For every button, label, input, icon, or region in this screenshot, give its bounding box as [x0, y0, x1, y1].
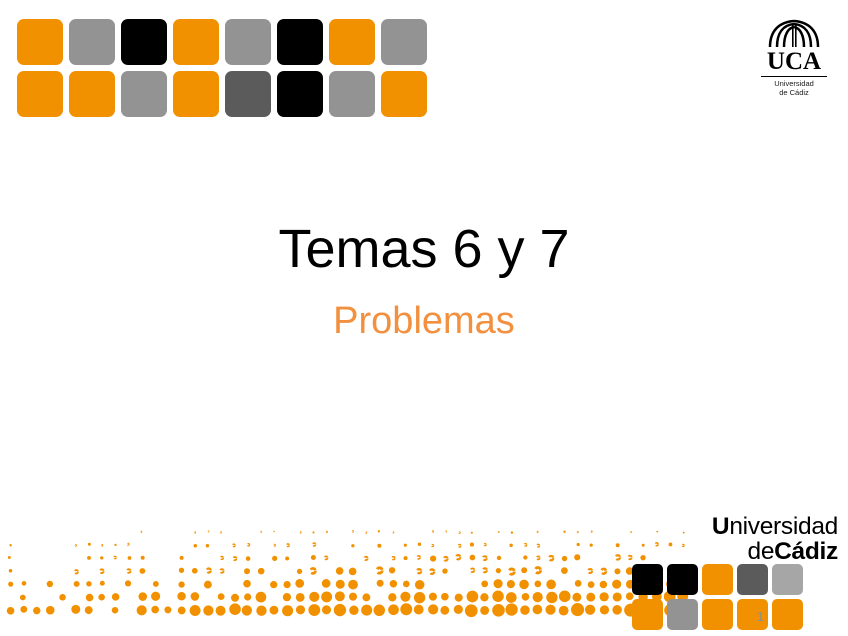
halftone-dot — [59, 594, 66, 601]
halftone-dot — [404, 556, 408, 560]
halftone-dot — [537, 544, 540, 547]
halftone-dot — [112, 607, 119, 614]
halftone-dot — [613, 592, 622, 601]
halftone-dot — [506, 592, 517, 603]
halftone-dot — [458, 544, 461, 547]
halftone-dot — [545, 605, 555, 615]
halftone-dot — [256, 592, 267, 603]
halftone-dot — [349, 593, 357, 601]
halftone-dot — [180, 556, 184, 560]
halftone-dot — [377, 568, 382, 573]
halftone-dot — [574, 554, 580, 560]
halftone-dot — [484, 543, 486, 545]
halftone-dot — [483, 568, 487, 572]
halftone-dot — [417, 556, 420, 559]
halftone-dot — [361, 605, 372, 616]
halftone-dot — [233, 544, 236, 547]
halftone-dot — [616, 543, 620, 547]
halftone-dot — [377, 544, 381, 548]
top-grid-square-r1-c5 — [277, 71, 323, 117]
halftone-dot — [296, 605, 305, 614]
halftone-dot — [164, 606, 171, 613]
halftone-dot — [519, 580, 529, 590]
halftone-dot — [140, 568, 146, 574]
top-grid-square-r1-c0 — [17, 71, 63, 117]
halftone-dot — [179, 568, 184, 573]
halftone-dot — [390, 580, 397, 587]
halftone-dot — [388, 593, 396, 601]
bottom-grid-square-r1-c2 — [702, 599, 733, 630]
halftone-dot — [8, 556, 11, 559]
halftone-dot — [431, 545, 433, 547]
top-grid-square-r0-c0 — [17, 19, 63, 65]
halftone-dot — [559, 591, 571, 603]
uca-bottom-wordmark-line2-cadiz: Cádiz — [774, 538, 838, 565]
halftone-dot — [365, 532, 366, 533]
halftone-dot — [442, 568, 447, 573]
halftone-dot — [533, 605, 543, 615]
halftone-dot — [349, 606, 358, 615]
halftone-dot — [588, 581, 595, 588]
halftone-dot — [309, 592, 319, 602]
halftone-dot — [20, 595, 26, 601]
halftone-dot — [616, 555, 620, 559]
uca-logo-subtitle-line2: de Cádiz — [758, 88, 830, 97]
halftone-dot — [100, 569, 104, 573]
halftone-dot — [138, 592, 147, 601]
halftone-dot — [683, 532, 685, 534]
halftone-dot — [244, 593, 251, 600]
halftone-dot — [321, 591, 332, 602]
halftone-dot — [374, 605, 386, 617]
halftone-dot — [430, 556, 436, 562]
halftone-dot — [364, 557, 367, 560]
halftone-dot — [600, 592, 609, 601]
halftone-dot — [308, 604, 320, 616]
halftone-dot — [520, 605, 529, 614]
halftone-dot — [284, 581, 291, 588]
halftone-dot — [454, 605, 463, 614]
halftone-dot — [414, 592, 425, 603]
halftone-dot — [178, 581, 184, 587]
halftone-dot — [100, 556, 103, 559]
halftone-dot — [441, 593, 449, 601]
halftone-dot — [470, 543, 474, 547]
slide-title: Temas 6 y 7 — [0, 218, 848, 280]
halftone-dot — [467, 591, 479, 603]
halftone-dot — [296, 593, 305, 602]
top-grid-square-r0-c4 — [225, 19, 271, 65]
halftone-dot — [137, 605, 147, 615]
bottom-grid-square-r0-c1 — [667, 564, 698, 595]
halftone-dot — [260, 531, 261, 532]
halftone-dot — [535, 568, 540, 573]
bottom-grid-square-r0-c3 — [737, 564, 768, 595]
halftone-dot — [655, 543, 658, 546]
halftone-dot — [322, 605, 331, 614]
uca-bottom-wordmark-line1-rest: niversidad — [729, 513, 838, 540]
halftone-dot — [392, 557, 395, 560]
halftone-dot — [352, 531, 354, 533]
halftone-dot — [203, 605, 213, 615]
halftone-dot — [33, 607, 40, 614]
halftone-dot — [492, 604, 505, 617]
halftone-dot — [414, 605, 424, 615]
halftone-dot — [521, 567, 527, 573]
halftone-dot — [509, 544, 512, 547]
halftone-dot — [494, 579, 503, 588]
halftone-dot — [88, 543, 91, 546]
halftone-dot — [572, 593, 581, 602]
halftone-dot — [151, 592, 160, 601]
halftone-dot — [75, 545, 77, 547]
top-grid-square-r0-c2 — [121, 19, 167, 65]
halftone-dot — [233, 557, 236, 560]
halftone-dot — [75, 570, 78, 573]
halftone-dot — [244, 568, 250, 574]
halftone-dot — [549, 556, 553, 560]
halftone-dot — [429, 593, 437, 601]
halftone-dot — [492, 591, 503, 602]
slide-subtitle: Problemas — [0, 298, 848, 344]
uca-logo-rule — [761, 76, 827, 77]
halftone-dot — [285, 556, 289, 560]
halftone-dot — [272, 556, 277, 561]
halftone-dot — [7, 607, 15, 615]
top-grid-square-r0-c3 — [173, 19, 219, 65]
halftone-dot — [141, 556, 145, 560]
halftone-dot — [313, 543, 316, 546]
halftone-dot — [282, 605, 293, 616]
top-grid-square-r1-c7 — [381, 71, 427, 117]
halftone-dot — [324, 556, 327, 559]
halftone-dot — [208, 531, 209, 532]
halftone-dot — [362, 593, 370, 601]
top-grid-square-r0-c5 — [277, 19, 323, 65]
halftone-dot — [194, 532, 195, 533]
top-grid-square-r1-c2 — [121, 71, 167, 117]
halftone-dot — [311, 555, 316, 560]
halftone-dot — [220, 556, 223, 559]
halftone-dot — [628, 556, 631, 559]
halftone-dot — [524, 544, 526, 546]
halftone-dot — [127, 543, 129, 545]
halftone-dot — [559, 606, 569, 616]
halftone-dot — [86, 594, 94, 602]
top-grid-square-r1-c6 — [329, 71, 375, 117]
halftone-dot — [297, 569, 302, 574]
halftone-dot — [177, 592, 186, 601]
bottom-grid-square-r0-c0 — [632, 564, 663, 595]
halftone-dot — [404, 544, 407, 547]
halftone-dot — [242, 605, 252, 615]
uca-bottom-wordmark-line1: Universidad — [712, 514, 838, 539]
halftone-dot — [400, 592, 410, 602]
halftone-dot — [591, 531, 592, 532]
halftone-dot — [207, 568, 211, 572]
halftone-dot — [575, 580, 582, 587]
halftone-dot — [522, 593, 530, 601]
title-block: Temas 6 y 7 Problemas — [0, 218, 848, 344]
halftone-dot — [246, 556, 251, 561]
halftone-dot — [415, 580, 424, 589]
halftone-dot — [430, 569, 434, 573]
top-grid-square-r1-c4 — [225, 71, 271, 117]
halftone-dot — [22, 581, 27, 586]
top-grid-square-r0-c6 — [329, 19, 375, 65]
halftone-dot — [351, 544, 354, 547]
halftone-dot — [312, 531, 314, 533]
halftone-dot — [231, 594, 239, 602]
uca-logo-subtitle-line1: Universidad — [758, 79, 830, 88]
halftone-dot — [336, 567, 344, 575]
halftone-dot — [537, 531, 539, 533]
halftone-dot — [481, 580, 488, 587]
halftone-dot — [669, 543, 673, 547]
halftone-dot — [417, 569, 421, 573]
halftone-dot — [497, 556, 501, 560]
halftone-dot — [470, 555, 476, 561]
uca-bottom-wordmark-line1-initial: U — [712, 513, 729, 540]
halftone-dot — [46, 606, 55, 615]
uca-logo: UCA Universidad de Cádiz — [758, 18, 830, 97]
halftone-dot — [86, 581, 91, 586]
halftone-dot — [537, 556, 540, 559]
uca-bottom-wordmark-line2-de: de — [748, 538, 775, 565]
halftone-dot — [612, 605, 622, 615]
bottom-grid-square-r1-c1 — [667, 599, 698, 630]
halftone-dot — [206, 544, 209, 547]
halftone-dot — [533, 592, 543, 602]
top-grid-square-r1-c1 — [69, 71, 115, 117]
halftone-dot — [388, 604, 399, 615]
halftone-dot — [496, 568, 501, 573]
halftone-dot — [98, 594, 105, 601]
halftone-dot — [273, 531, 274, 532]
halftone-dot — [220, 569, 224, 573]
halftone-dot — [393, 532, 394, 533]
halftone-dot — [571, 603, 584, 616]
halftone-dot — [256, 606, 266, 616]
halftone-dot — [418, 543, 421, 546]
halftone-dot — [498, 531, 499, 532]
halftone-dot — [509, 569, 514, 574]
uca-crest-icon — [766, 18, 822, 48]
halftone-dot — [600, 581, 608, 589]
halftone-dot — [577, 531, 578, 532]
halftone-dot — [100, 581, 105, 586]
halftone-dot — [612, 580, 621, 589]
halftone-dot — [114, 556, 116, 558]
halftone-dot — [114, 544, 116, 546]
halftone-dot — [322, 579, 331, 588]
halftone-dot — [8, 582, 13, 587]
halftone-dot — [192, 568, 198, 574]
halftone-dot — [585, 605, 595, 615]
halftone-dot — [71, 605, 80, 614]
halftone-dot — [125, 580, 131, 586]
halftone-dot — [642, 544, 645, 547]
halftone-dot — [546, 580, 556, 590]
halftone-dot — [204, 581, 212, 589]
halftone-dot — [505, 603, 517, 615]
halftone-dot — [311, 568, 316, 573]
halftone-dot — [274, 544, 276, 546]
halftone-dot — [400, 603, 412, 615]
halftone-dot — [191, 592, 200, 601]
halftone-dot — [348, 580, 358, 590]
halftone-dot — [440, 606, 449, 615]
halftone-dot — [586, 593, 595, 602]
bottom-grid-square-r0-c4 — [772, 564, 803, 595]
halftone-dot — [546, 592, 557, 603]
top-grid-square-r0-c1 — [69, 19, 115, 65]
halftone-dot — [258, 568, 265, 575]
halftone-dot — [220, 532, 221, 533]
halftone-dot — [218, 593, 225, 600]
bottom-grid-square-r1-c0 — [632, 599, 663, 630]
slide-canvas: UCA Universidad de Cádiz Temas 6 y 7 Pro… — [0, 0, 848, 636]
halftone-dot — [600, 605, 609, 614]
halftone-dot — [480, 593, 488, 601]
bottom-decorative-square-grid — [632, 564, 838, 630]
halftone-dot — [563, 531, 565, 533]
halftone-dot — [459, 532, 461, 534]
halftone-dot — [445, 531, 446, 532]
halftone-dot — [287, 544, 290, 547]
halftone-dot — [389, 567, 395, 573]
halftone-dot — [455, 594, 463, 602]
halftone-dot — [178, 607, 186, 615]
halftone-dot — [577, 543, 580, 546]
page-number: 1 — [745, 609, 776, 624]
halftone-dot — [270, 606, 279, 615]
halftone-dot — [561, 567, 568, 574]
halftone-dot — [334, 604, 346, 616]
halftone-dot — [630, 532, 631, 533]
halftone-dot — [127, 569, 131, 573]
halftone-dot — [141, 531, 142, 532]
halftone-dot — [190, 605, 201, 616]
halftone-dot — [523, 555, 527, 559]
halftone-dot — [349, 568, 357, 576]
uca-bottom-wordmark: Universidad deCádiz — [712, 514, 838, 564]
halftone-dot — [85, 606, 93, 614]
halftone-dot — [682, 544, 684, 546]
halftone-dot — [507, 580, 515, 588]
halftone-dot — [471, 568, 475, 572]
halftone-dot — [511, 531, 513, 533]
bottom-grid-square-r1-c5 — [807, 599, 838, 630]
halftone-dot — [74, 581, 80, 587]
halftone-dot — [588, 569, 592, 573]
halftone-dot — [465, 604, 478, 617]
halftone-dot — [614, 568, 620, 574]
halftone-dot — [101, 544, 103, 546]
halftone-dot — [336, 580, 345, 589]
halftone-dot — [283, 593, 291, 601]
halftone-dot — [432, 531, 434, 533]
halftone-dot — [562, 556, 567, 561]
halftone-dot — [9, 569, 13, 573]
halftone-dot — [456, 555, 460, 559]
top-grid-square-r0-c7 — [381, 19, 427, 65]
bottom-grid-square-r0-c2 — [702, 564, 733, 595]
halftone-dot — [377, 580, 384, 587]
halftone-dot — [590, 544, 593, 547]
halftone-dot — [151, 606, 159, 614]
bottom-grid-square-r1-c4 — [772, 599, 803, 630]
halftone-dot — [480, 606, 489, 615]
halftone-dot — [153, 581, 159, 587]
bottom-grid-square-r0-c5 — [807, 564, 838, 595]
halftone-dot — [428, 604, 438, 614]
halftone-dot — [270, 581, 277, 588]
halftone-dot — [194, 544, 198, 548]
halftone-dot — [229, 603, 241, 615]
top-decorative-square-grid — [17, 19, 427, 117]
halftone-dot — [640, 555, 645, 560]
halftone-dot — [87, 556, 91, 560]
halftone-dot — [483, 556, 487, 560]
halftone-dot — [444, 557, 448, 561]
halftone-dot — [9, 544, 11, 546]
uca-logo-wordmark: UCA — [758, 49, 830, 75]
halftone-dot — [112, 593, 120, 601]
uca-bottom-wordmark-line2: deCádiz — [712, 539, 838, 564]
halftone-dot — [326, 531, 328, 533]
halftone-dot — [243, 580, 251, 588]
halftone-dot — [47, 581, 53, 587]
halftone-dot — [335, 591, 345, 601]
halftone-dot — [403, 581, 410, 588]
top-grid-square-r1-c3 — [173, 71, 219, 117]
halftone-dot — [656, 531, 658, 533]
halftone-dot — [300, 532, 301, 533]
halftone-dot — [128, 556, 132, 560]
halftone-dot — [471, 532, 473, 534]
halftone-dot — [378, 530, 380, 532]
halftone-dot — [216, 606, 226, 616]
halftone-dot — [20, 606, 27, 613]
halftone-dot — [295, 579, 304, 588]
halftone-dot — [534, 580, 541, 587]
halftone-dot — [601, 569, 606, 574]
halftone-dot — [247, 544, 249, 546]
